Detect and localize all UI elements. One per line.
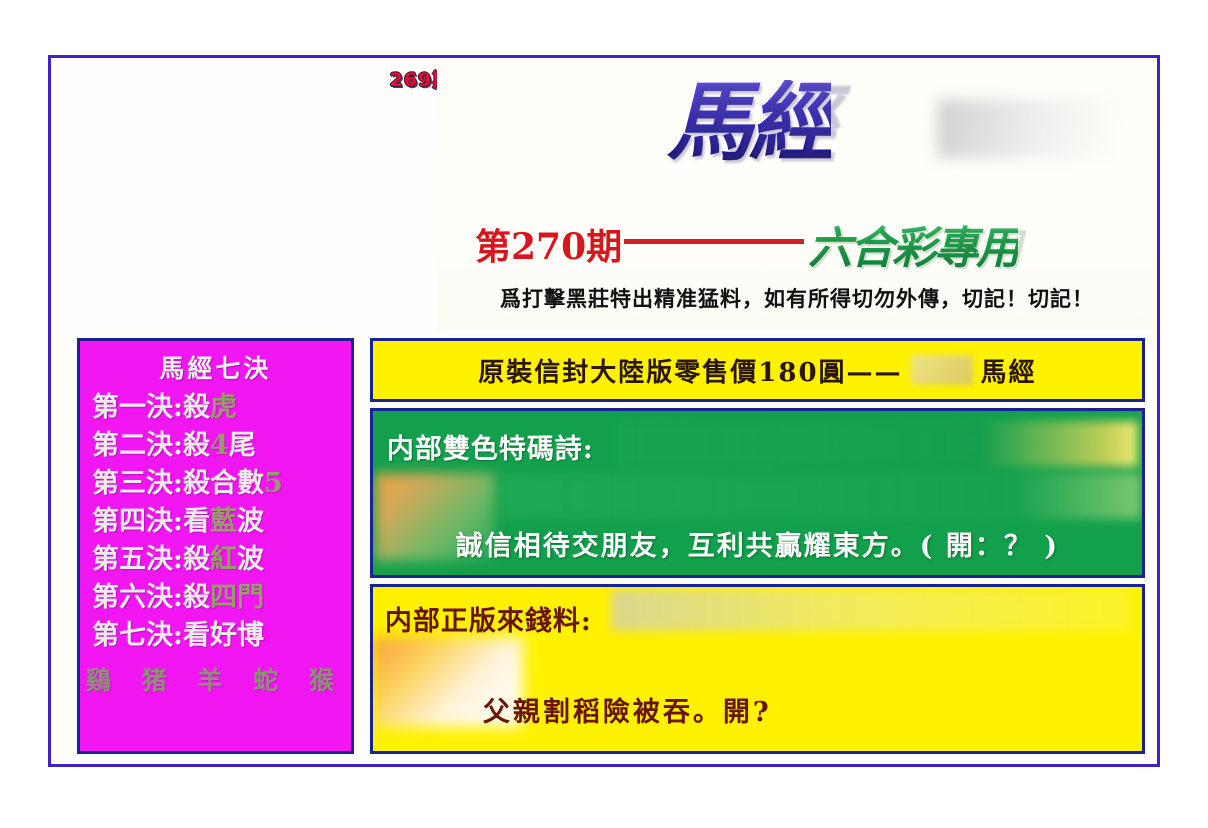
- outer-frame: 269期开奖结果：48 09 46 07 06 38 T 37 馬經 第270期…: [48, 55, 1160, 767]
- rule-label-3: 第三決:殺合數: [92, 468, 264, 499]
- content-area: 馬經七決 第一決:殺虎 第二決:殺4尾 第三決:殺合數5 第四決:看藍波 第五決…: [51, 330, 1157, 764]
- rule-row-2: 第二決:殺4尾: [86, 427, 256, 465]
- yellow-censored-box-top: [611, 589, 1131, 631]
- rule-label-5: 第五決:殺: [92, 544, 210, 575]
- rule-value-2: 4: [210, 430, 229, 461]
- rule-value-4: 藍: [210, 506, 237, 537]
- logo-card: 馬經 第270期 六合彩專用 爲打擊黑莊特出精准猛料，如有所得切勿外傳，切記！切…: [437, 58, 1157, 330]
- page-root: 269期开奖结果：48 09 46 07 06 38 T 37 馬經 第270期…: [0, 0, 1208, 828]
- rule-suffix-2: 尾: [229, 430, 256, 461]
- rule-row-6: 第六決:殺四門: [86, 579, 264, 617]
- price-censored-box: [911, 355, 973, 385]
- footer-ghost-text: [0, 795, 1208, 809]
- seven-rules-panel: 馬經七決 第一決:殺虎 第二決:殺4尾 第三決:殺合數5 第四決:看藍波 第五決…: [77, 338, 354, 754]
- masthead-subtitle: 爲打擊黑莊特出精准猛料，如有所得切勿外傳，切記！切記！: [437, 283, 1157, 313]
- dual-color-poem-text: 誠信相待交朋友，互利共贏耀東方。( 開：？ ): [373, 524, 1142, 563]
- rule-suffix-4: 波: [237, 506, 264, 537]
- rule-value-5: 紅: [210, 544, 237, 575]
- rule-value-1: 虎: [210, 392, 237, 423]
- rule-label-4: 第四決:看: [92, 506, 210, 537]
- zodiac-list: 鷄 猪 羊 蛇 猴: [86, 661, 345, 697]
- issue-row: 第270期 六合彩專用: [475, 216, 1135, 272]
- rule-suffix-5: 波: [237, 544, 264, 575]
- rule-row-4: 第四決:看藍波: [86, 503, 264, 541]
- rule-row-5: 第五決:殺紅波: [86, 541, 264, 579]
- rule-label-1: 第一決:殺: [92, 392, 210, 423]
- brand-logo: 馬經: [667, 80, 831, 166]
- masthead: 269期开奖结果：48 09 46 07 06 38 T 37 馬經 第270期…: [51, 58, 1157, 330]
- logo-blur-smear: [937, 100, 1117, 158]
- rule-label-6: 第六決:殺: [92, 582, 210, 613]
- dual-color-poem-label: 内部雙色特碼詩:: [387, 427, 594, 466]
- price-text: 原裝信封大陸版零售價180圓—— 馬經: [478, 352, 1036, 389]
- rule-label-2: 第二決:殺: [92, 430, 210, 461]
- rule-value-3: 5: [264, 468, 283, 499]
- dual-color-poem-block: 内部雙色特碼詩: 誠信相待交朋友，互利共贏耀東方。( 開：？ ): [370, 408, 1145, 578]
- rule-row-3: 第三決:殺合數5: [86, 465, 283, 503]
- rule-value-6: 四門: [210, 582, 264, 613]
- price-banner: 原裝信封大陸版零售價180圓—— 馬經: [370, 338, 1145, 402]
- issue-divider-rule: [624, 239, 804, 244]
- money-tip-label: 内部正版來錢料:: [385, 599, 592, 638]
- money-tip-text: 父親割稻險被吞。開?: [483, 690, 772, 729]
- money-tip-block: 内部正版來錢料: 父親割稻險被吞。開?: [370, 584, 1145, 754]
- seven-rules-title: 馬經七決: [159, 349, 271, 385]
- price-text-before: 原裝信封大陸版零售價180圓——: [478, 352, 902, 389]
- green-censored-box-top: [618, 421, 1138, 467]
- lottery-tagline: 六合彩專用: [808, 212, 1018, 276]
- rule-row-7: 第七決:看好博: [86, 617, 264, 655]
- green-censored-box-mid: [501, 473, 1141, 519]
- issue-number-label: 第270期: [475, 218, 622, 270]
- right-column: 原裝信封大陸版零售價180圓—— 馬經 内部雙色特碼詩: 誠信相待交朋友，互利共…: [370, 338, 1145, 754]
- rule-row-1: 第一決:殺虎: [86, 389, 237, 427]
- price-text-after: 馬經: [981, 352, 1037, 389]
- rule-label-7: 第七決:看好博: [92, 620, 264, 651]
